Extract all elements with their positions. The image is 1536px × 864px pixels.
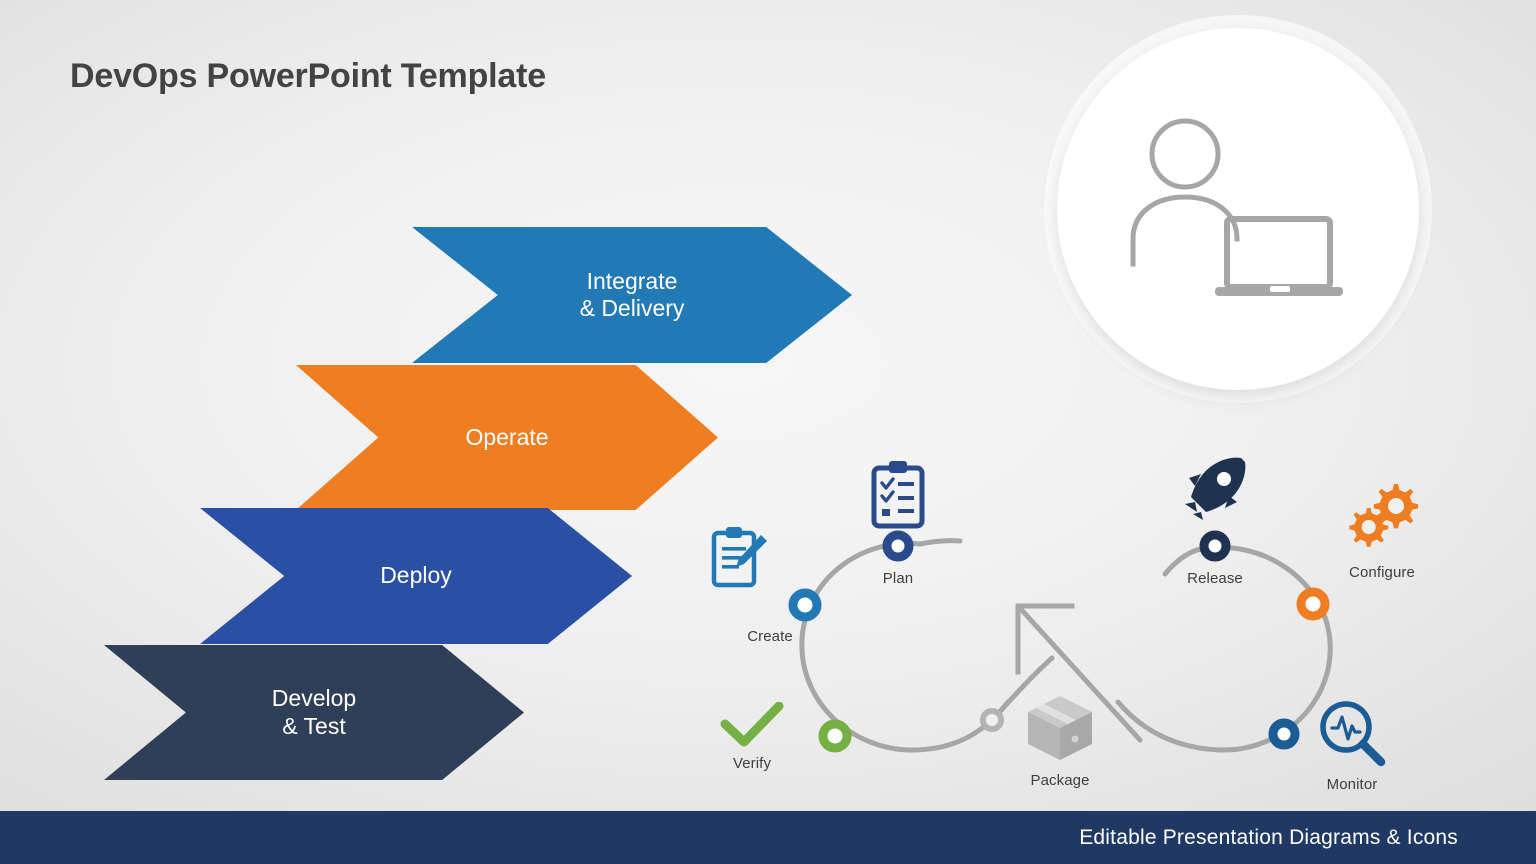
slide-canvas: DevOps PowerPoint Template Integrate & D… xyxy=(0,0,1536,864)
chevron-label: Integrate & Delivery xyxy=(580,268,685,322)
chevron-label-line1: Operate xyxy=(465,424,548,451)
checklist-clipboard-icon xyxy=(867,458,929,530)
chevron-label: Deploy xyxy=(380,562,452,589)
magnifier-pulse-icon xyxy=(1317,698,1387,768)
chevron-deploy[interactable]: Deploy xyxy=(200,508,632,644)
page-title: DevOps PowerPoint Template xyxy=(70,57,546,96)
devops-infinity-loop: Create Plan Verify xyxy=(760,440,1460,810)
chevron-label-line1: Deploy xyxy=(380,562,452,589)
loop-label-release: Release xyxy=(1187,570,1243,587)
loop-label-monitor: Monitor xyxy=(1327,776,1378,793)
chevron-develop-test[interactable]: Develop & Test xyxy=(104,645,524,780)
chevron-label-line1: Integrate xyxy=(580,268,685,295)
green-check-icon xyxy=(719,702,785,748)
footer-text: Editable Presentation Diagrams & Icons xyxy=(1079,826,1536,850)
avatar-circle xyxy=(1057,28,1419,390)
footer-bar: Editable Presentation Diagrams & Icons xyxy=(0,811,1536,864)
chevron-label-line2: & Test xyxy=(272,713,356,740)
chevron-integrate-delivery[interactable]: Integrate & Delivery xyxy=(412,227,852,363)
box-package-icon xyxy=(1024,692,1096,764)
loop-label-verify: Verify xyxy=(733,755,771,772)
loop-label-configure: Configure xyxy=(1349,564,1415,581)
gears-icon xyxy=(1343,482,1421,554)
rocket-icon xyxy=(1179,452,1251,524)
loop-label-package: Package xyxy=(1030,772,1089,789)
clipboard-pencil-icon xyxy=(709,525,771,591)
loop-label-plan: Plan xyxy=(883,570,913,587)
loop-label-create: Create xyxy=(747,628,793,645)
chevron-label-line1: Develop xyxy=(272,685,356,712)
chevron-label: Develop & Test xyxy=(272,685,356,739)
chevron-label-line2: & Delivery xyxy=(580,295,685,322)
chevron-operate[interactable]: Operate xyxy=(296,365,718,510)
chevron-label: Operate xyxy=(465,424,548,451)
